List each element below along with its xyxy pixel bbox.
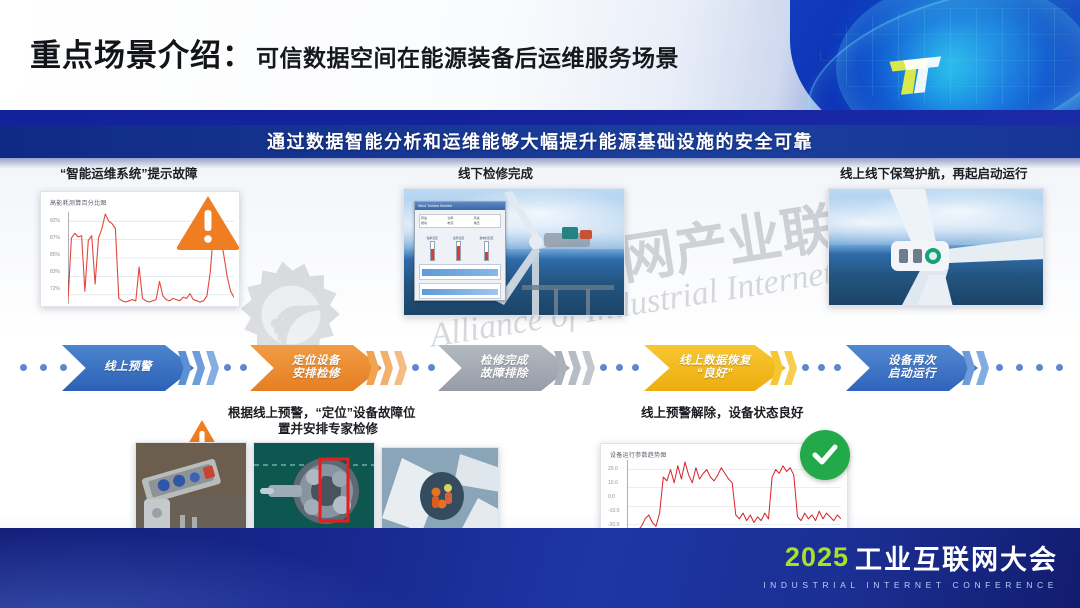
check-mark-icon: [810, 440, 840, 470]
monitor-dialog-titlebar: Wind Turbine Monitor: [415, 202, 505, 210]
recovery-chart-ytick-0: 20.0: [608, 466, 618, 472]
gauge-label-0: 轴承温度: [427, 236, 438, 240]
flow-arrow: [394, 351, 407, 385]
monitor-trend-1: [419, 264, 501, 280]
banner-title: 通过数据智能分析和运维能够大幅提升能源基础设施的安全可靠: [0, 128, 1080, 154]
flow-step-4-line1: 线上数据恢复: [679, 355, 751, 368]
conference-year: 2025: [785, 542, 849, 573]
monitor-field-4: 电流: [447, 221, 472, 225]
slide-root: 重点场景介绍： 可信数据空间在能源装备后运维服务场景 通过数据智能分析和运维能够…: [0, 0, 1080, 608]
conference-name-cn: 工业互联网大会: [855, 538, 1058, 577]
flow-dot: [412, 364, 419, 371]
flow-dot: [1016, 364, 1023, 371]
caption-top-right: 线上线下保驾护航，再起启动运行: [840, 163, 1028, 182]
recovery-chart-ytick-3: -10.0: [608, 508, 619, 514]
flow-step-3-line1: 检修完成: [480, 355, 528, 368]
flow-step-4[interactable]: 线上数据恢复 “良好”: [644, 345, 786, 391]
gauge-2: 发电机温度: [479, 236, 493, 261]
flow-dot: [834, 364, 841, 371]
fault-chart-ytick-4: 72%: [50, 286, 60, 292]
flow-dot: [600, 364, 607, 371]
gauge-label-1: 齿轮温度: [453, 236, 464, 240]
flow-dot: [428, 364, 435, 371]
monitor-field-5: 电压: [474, 221, 499, 225]
monitor-field-1: 功率: [447, 216, 472, 220]
flow-dot: [802, 364, 809, 371]
monitor-dialog-title: Wind Turbine Monitor: [418, 204, 452, 208]
fault-chart-ytick-0: 82%: [50, 218, 60, 224]
flow-arrow: [582, 351, 595, 385]
conference-name-en: INDUSTRIAL INTERNET CONFERENCE: [763, 580, 1058, 590]
flow-dot: [240, 364, 247, 371]
flow-dot: [40, 364, 47, 371]
flow-dot: [1056, 364, 1063, 371]
fault-chart-title: 高能耗测算百分比图: [50, 198, 107, 207]
check-circle-icon: [800, 430, 850, 480]
conference-logo: 2025 工业互联网大会 INDUSTRIAL INTERNET CONFERE…: [763, 538, 1058, 590]
fault-chart-ytick-1: 87%: [50, 235, 60, 241]
flow-dot: [20, 364, 27, 371]
recovery-chart-title: 设备运行参数趋势图: [610, 450, 667, 459]
flow-step-2-line2: 安排检修: [292, 368, 340, 381]
header-divider: [0, 110, 1080, 125]
flow-step-1-line1: 线上预警: [104, 361, 152, 374]
gauge-1: 齿轮温度: [453, 236, 464, 261]
technicians-graphic: [382, 448, 499, 531]
caption-top-left: “智能运维系统”提示故障: [60, 163, 198, 182]
flow-step-2[interactable]: 定位设备 安排检修: [250, 345, 382, 391]
monitor-gauges: 轴承温度 齿轮温度 发电机温度: [419, 231, 501, 261]
monitor-field-3: 振动: [421, 221, 446, 225]
monitor-field-2: 风速: [474, 216, 499, 220]
turbine-closeup-graphic: [829, 189, 1044, 306]
flow-dot: [60, 364, 67, 371]
flow-dot: [818, 364, 825, 371]
monitor-fields: 转速 功率 风速 振动 电流 电压: [419, 214, 501, 228]
t-logo-icon: [885, 50, 949, 100]
gearbox-graphic: [254, 443, 375, 536]
recovery-chart-ytick-2: 0.0: [608, 494, 615, 500]
gauge-0: 轴承温度: [427, 236, 438, 261]
technicians-photo: [381, 447, 499, 531]
flow-step-2-line1: 定位设备: [292, 355, 340, 368]
page-title-sub: 可信数据空间在能源装备后运维服务场景: [256, 39, 679, 73]
flow-dot: [996, 364, 1003, 371]
flow-step-3[interactable]: 检修完成 故障排除: [438, 345, 570, 391]
warning-triangle-icon: [175, 193, 241, 251]
page-title: 重点场景介绍： 可信数据空间在能源装备后运维服务场景: [30, 30, 679, 75]
gauge-label-2: 发电机温度: [479, 236, 493, 240]
flow-step-5-line1: 设备再次: [888, 355, 936, 368]
flow-step-5[interactable]: 设备再次 启动运行: [846, 345, 978, 391]
monitor-field-0: 转速: [421, 216, 446, 220]
monitor-dialog[interactable]: Wind Turbine Monitor 转速 功率 风速 振动 电流 电压 轴…: [414, 201, 506, 301]
fault-chart-ytick-3: 83%: [50, 269, 60, 275]
flow-dot: [616, 364, 623, 371]
flow-step-5-line2: 启动运行: [888, 368, 936, 381]
nacelle-internal-photo: [135, 442, 247, 536]
caption-bottom-right: 线上预警解除，设备状态良好: [641, 402, 804, 421]
slide-header: 重点场景介绍： 可信数据空间在能源装备后运维服务场景: [0, 0, 1080, 110]
recovery-chart-ytick-1: 10.0: [608, 480, 618, 486]
fault-chart-ytick-2: 85%: [50, 252, 60, 258]
nacelle-internal-graphic: [136, 443, 247, 536]
flow-step-3-line2: 故障排除: [480, 368, 528, 381]
offshore-maintenance-photo: Wind Turbine Monitor 转速 功率 风速 振动 电流 电压 轴…: [403, 188, 625, 316]
flow-dot: [224, 364, 231, 371]
process-flow: 线上预警 定位设备 安排检修 检修完成 故障排除: [0, 345, 1080, 393]
caption-bottom-left-line2: 置并安排专家检修: [278, 418, 378, 437]
flow-step-4-line2: “良好”: [679, 368, 751, 381]
gearbox-inspection-photo: [253, 442, 375, 536]
caption-top-mid: 线下检修完成: [458, 163, 533, 182]
flow-dot: [1036, 364, 1043, 371]
flow-step-1[interactable]: 线上预警: [62, 345, 194, 391]
page-title-main: 重点场景介绍：: [30, 30, 254, 75]
flow-dot: [632, 364, 639, 371]
flow-arrow: [206, 351, 219, 385]
monitor-trend-2: [419, 283, 501, 299]
turbine-closeup-photo: [828, 188, 1044, 306]
